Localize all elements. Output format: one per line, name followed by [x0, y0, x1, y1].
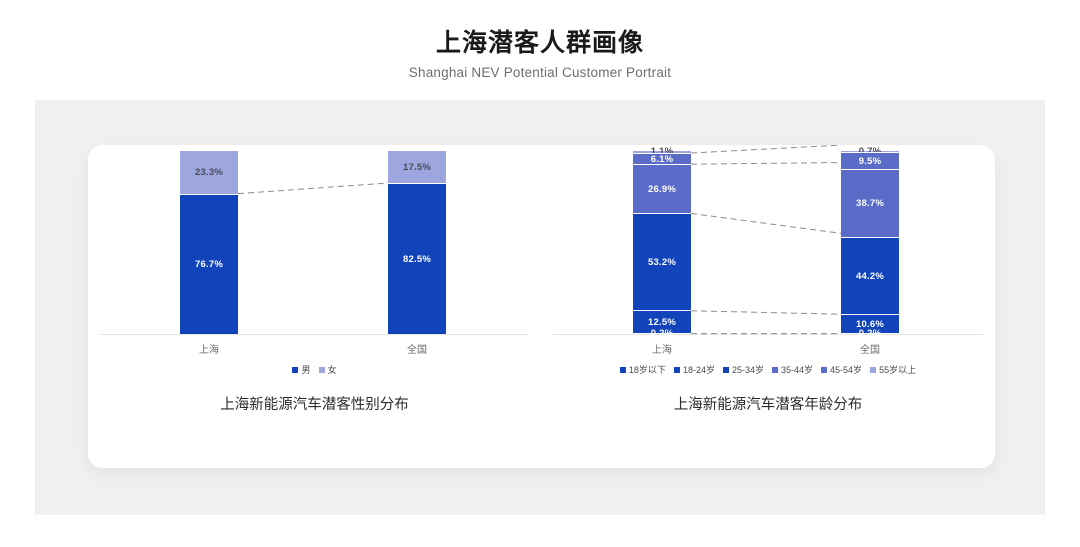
connector-lines-gender — [88, 145, 541, 340]
legend-swatch-icon — [723, 367, 729, 373]
connector-line — [691, 213, 841, 233]
bar-segment: 82.5% — [388, 183, 446, 334]
connector-line — [238, 183, 388, 194]
legend-item[interactable]: 18-24岁 — [674, 363, 715, 376]
segment-value-label: 6.1% — [633, 154, 691, 165]
legend-item[interactable]: 35-44岁 — [772, 363, 813, 376]
category-label: 全国 — [388, 341, 446, 356]
chart-age-distribution: 1.1%6.1%26.9%53.2%12.5%0.2% 0.7%9.5%38.7… — [541, 145, 995, 468]
bar-segment: 76.7% — [180, 194, 238, 334]
x-axis-line — [100, 334, 529, 335]
legend-swatch-icon — [292, 367, 298, 373]
segment-value-label: 9.5% — [859, 156, 881, 167]
legend-item[interactable]: 25-34岁 — [723, 363, 764, 376]
chart-gender-distribution: 23.3%76.7% 17.5%82.5% 上海 全国 男女 上海新能源汽车潜客… — [88, 145, 541, 468]
connector-lines-age — [541, 145, 995, 340]
bar-segment: 26.9% — [633, 164, 691, 213]
segment-value-label: 0.2% — [841, 328, 899, 339]
category-label: 上海 — [633, 341, 691, 356]
bar-stack[interactable]: 17.5%82.5% — [388, 151, 446, 334]
page-header: 上海潜客人群画像 Shanghai NEV Potential Customer… — [0, 0, 1080, 80]
category-label: 上海 — [180, 341, 238, 356]
segment-value-label: 38.7% — [856, 198, 884, 209]
legend-swatch-icon — [821, 367, 827, 373]
page-title: 上海潜客人群画像 — [0, 0, 1080, 60]
category-label: 全国 — [841, 341, 899, 356]
legend-swatch-icon — [674, 367, 680, 373]
bar-segment: 6.1% — [633, 153, 691, 164]
legend-label: 18岁以下 — [629, 363, 666, 376]
legend-label: 18-24岁 — [683, 363, 715, 376]
bar-segment: 44.2% — [841, 237, 899, 315]
segment-value-label: 82.5% — [403, 254, 431, 265]
legend-item[interactable]: 45-54岁 — [821, 363, 862, 376]
legend-swatch-icon — [772, 367, 778, 373]
segment-value-label: 23.3% — [195, 167, 223, 178]
bar-stack[interactable]: 1.1%6.1%26.9%53.2%12.5%0.2% — [633, 151, 691, 334]
legend-label: 55岁以上 — [879, 363, 916, 376]
segment-value-label: 12.5% — [648, 317, 676, 328]
charts-container: 23.3%76.7% 17.5%82.5% 上海 全国 男女 上海新能源汽车潜客… — [88, 145, 995, 468]
chart-legend-gender: 男女 — [88, 363, 541, 376]
bar-segment: 38.7% — [841, 169, 899, 237]
legend-label: 女 — [328, 363, 337, 376]
bar-segment: 9.5% — [841, 152, 899, 169]
connector-line — [691, 163, 841, 165]
segment-value-label: 76.7% — [195, 259, 223, 270]
legend-item[interactable]: 55岁以上 — [870, 363, 916, 376]
segment-value-label: 0.2% — [633, 328, 691, 339]
connector-line — [691, 145, 841, 153]
segment-value-label: 26.9% — [648, 184, 676, 195]
plot-area-gender: 23.3%76.7% 17.5%82.5% 上海 全国 — [88, 145, 541, 340]
legend-item[interactable]: 男 — [292, 363, 310, 376]
legend-label: 35-44岁 — [781, 363, 813, 376]
bar-stack[interactable]: 0.7%9.5%38.7%44.2%10.6%0.2% — [841, 151, 899, 334]
bar-segment: 53.2% — [633, 213, 691, 310]
legend-label: 45-54岁 — [830, 363, 862, 376]
legend-swatch-icon — [319, 367, 325, 373]
legend-swatch-icon — [870, 367, 876, 373]
bar-segment: 23.3% — [180, 151, 238, 194]
page-subtitle: Shanghai NEV Potential Customer Portrait — [0, 60, 1080, 80]
segment-value-label: 53.2% — [648, 257, 676, 268]
legend-label: 25-34岁 — [732, 363, 764, 376]
bar-segment: 0.2% — [633, 333, 691, 334]
plot-area-age: 1.1%6.1%26.9%53.2%12.5%0.2% 0.7%9.5%38.7… — [541, 145, 995, 340]
bar-segment: 17.5% — [388, 151, 446, 183]
chart-caption: 上海新能源汽车潜客年龄分布 — [541, 393, 995, 414]
chart-caption: 上海新能源汽车潜客性别分布 — [88, 393, 541, 414]
legend-item[interactable]: 女 — [319, 363, 337, 376]
legend-label: 男 — [301, 363, 310, 376]
bar-stack[interactable]: 23.3%76.7% — [180, 151, 238, 334]
x-axis-line — [553, 334, 983, 335]
segment-value-label: 44.2% — [856, 271, 884, 282]
segment-value-label: 17.5% — [403, 162, 431, 173]
bar-segment: 0.2% — [841, 333, 899, 334]
legend-swatch-icon — [620, 367, 626, 373]
chart-legend-age: 18岁以下18-24岁25-34岁35-44岁45-54岁55岁以上 — [541, 363, 995, 376]
connector-line — [691, 311, 841, 314]
legend-item[interactable]: 18岁以下 — [620, 363, 666, 376]
